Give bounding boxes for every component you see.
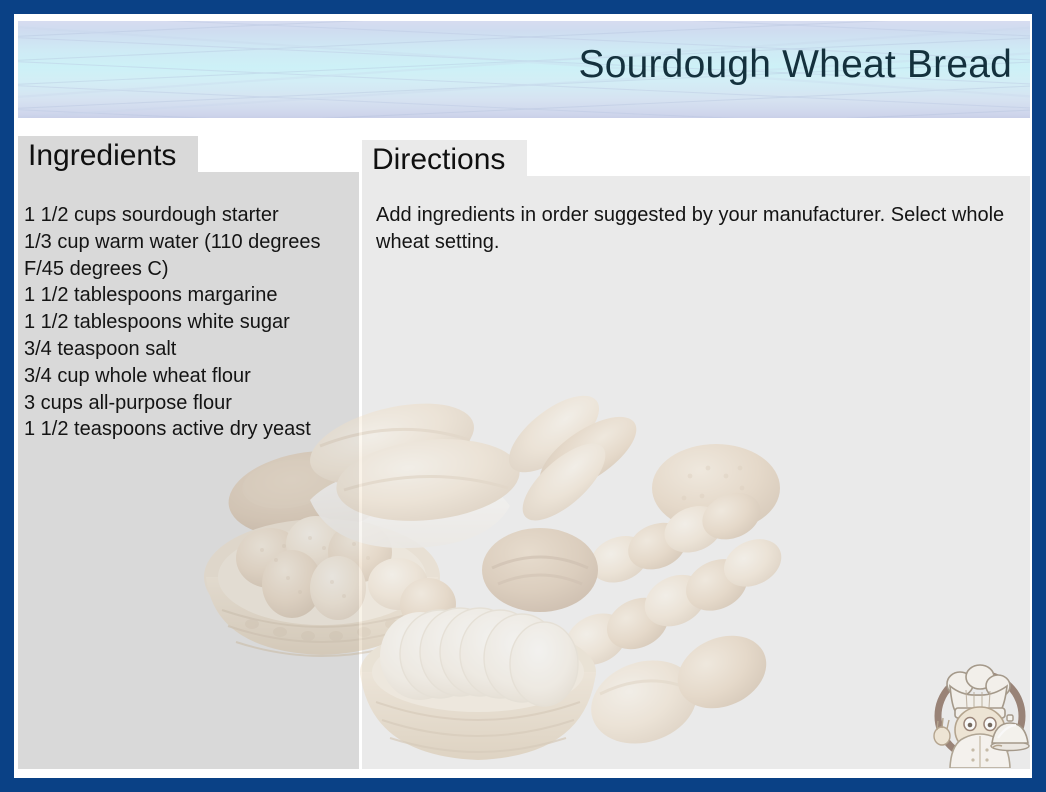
list-item: 1 1/2 tablespoons white sugar — [24, 309, 356, 336]
ingredients-panel: 1 1/2 cups sourdough starter 1/3 cup war… — [18, 172, 359, 769]
tab-ingredients[interactable]: Ingredients — [18, 136, 198, 177]
list-item: 3/4 cup whole wheat flour — [24, 363, 356, 390]
slide-canvas: Sourdough Wheat Bread Ingredients Direct… — [14, 14, 1032, 778]
page-title: Sourdough Wheat Bread — [579, 43, 1013, 87]
list-item: 3 cups all-purpose flour — [24, 390, 356, 417]
list-item: 1 1/2 cups sourdough starter — [24, 202, 356, 229]
chef-logo-icon — [922, 652, 1038, 768]
list-item: 1 1/2 tablespoons margarine — [24, 282, 356, 309]
directions-text: Add ingredients in order suggested by yo… — [376, 202, 1006, 256]
slide-border: Sourdough Wheat Bread Ingredients Direct… — [0, 0, 1046, 792]
list-item: 3/4 teaspoon salt — [24, 336, 356, 363]
ingredients-list: 1 1/2 cups sourdough starter 1/3 cup war… — [24, 202, 356, 443]
header-banner: Sourdough Wheat Bread — [18, 21, 1030, 118]
list-item: 1 1/2 teaspoons active dry yeast — [24, 416, 356, 443]
list-item: 1/3 cup warm water (110 degrees F/45 deg… — [24, 229, 356, 283]
tab-directions[interactable]: Directions — [362, 140, 527, 181]
